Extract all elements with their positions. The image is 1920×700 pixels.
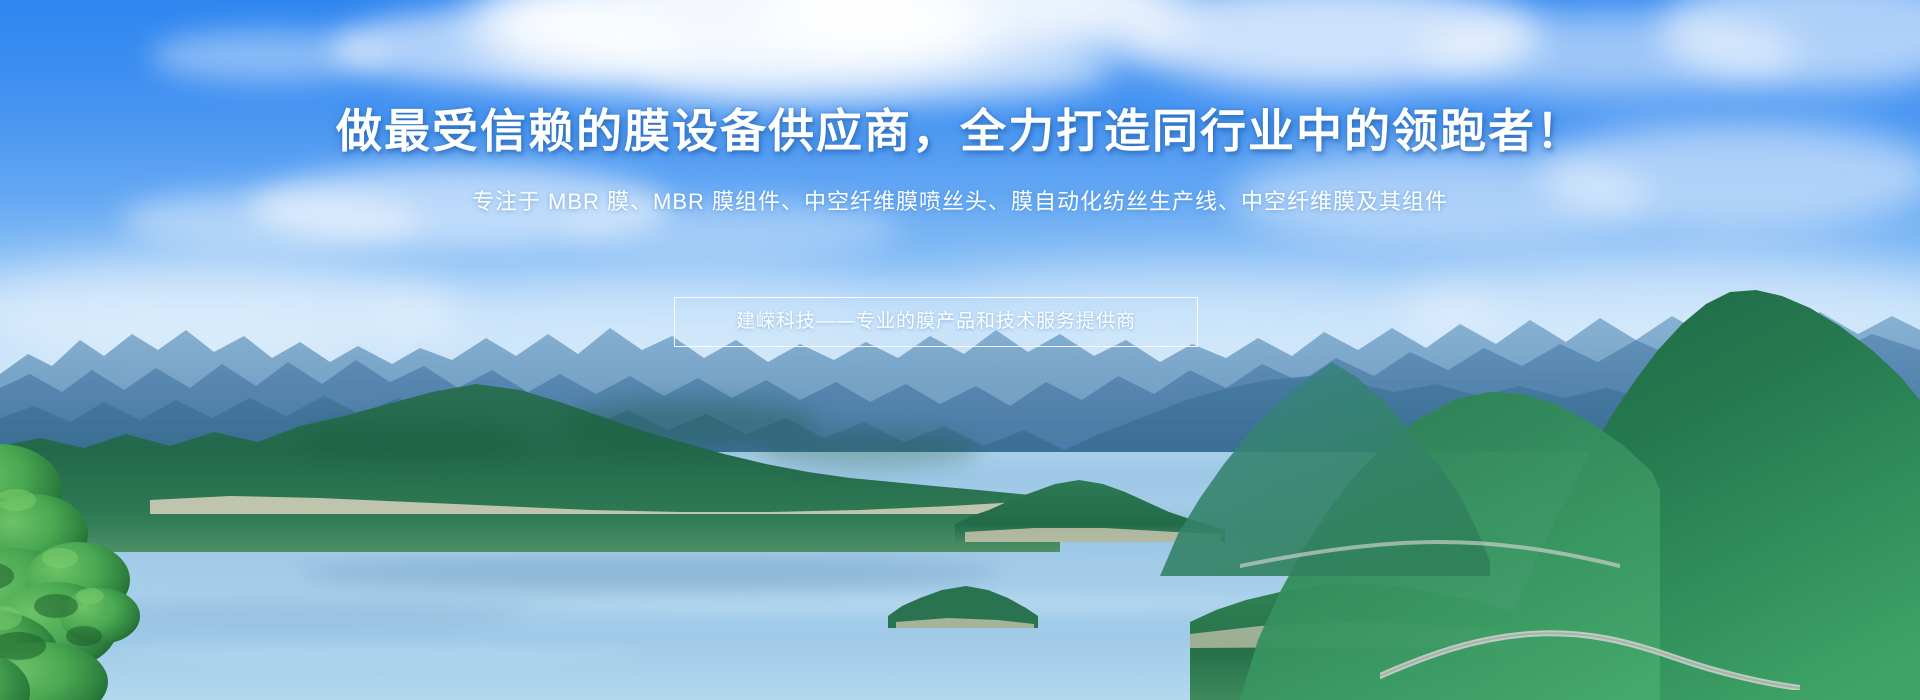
tagline-box: 建嵘科技——专业的膜产品和技术服务提供商 xyxy=(674,297,1198,347)
forest-texture xyxy=(760,430,980,468)
winding-mountain-road-upper xyxy=(1240,512,1620,592)
lake-island-small xyxy=(888,576,1038,628)
banner-subtitle: 专注于 MBR 膜、MBR 膜组件、中空纤维膜喷丝头、膜自动化纺丝生产线、中空纤… xyxy=(0,187,1920,217)
tagline-text: 建嵘科技——专业的膜产品和技术服务提供商 xyxy=(736,310,1136,334)
forest-texture xyxy=(300,420,520,460)
hero-banner: 做最受信赖的膜设备供应商，全力打造同行业中的领跑者！ 专注于 MBR 膜、MBR… xyxy=(0,0,1920,700)
foreground-tree-foliage xyxy=(0,430,280,700)
cloud-shape xyxy=(640,40,1110,104)
cloud-shape xyxy=(150,30,390,82)
winding-mountain-road xyxy=(1380,580,1800,690)
banner-headline: 做最受信赖的膜设备供应商，全力打造同行业中的领跑者！ xyxy=(0,103,1920,159)
